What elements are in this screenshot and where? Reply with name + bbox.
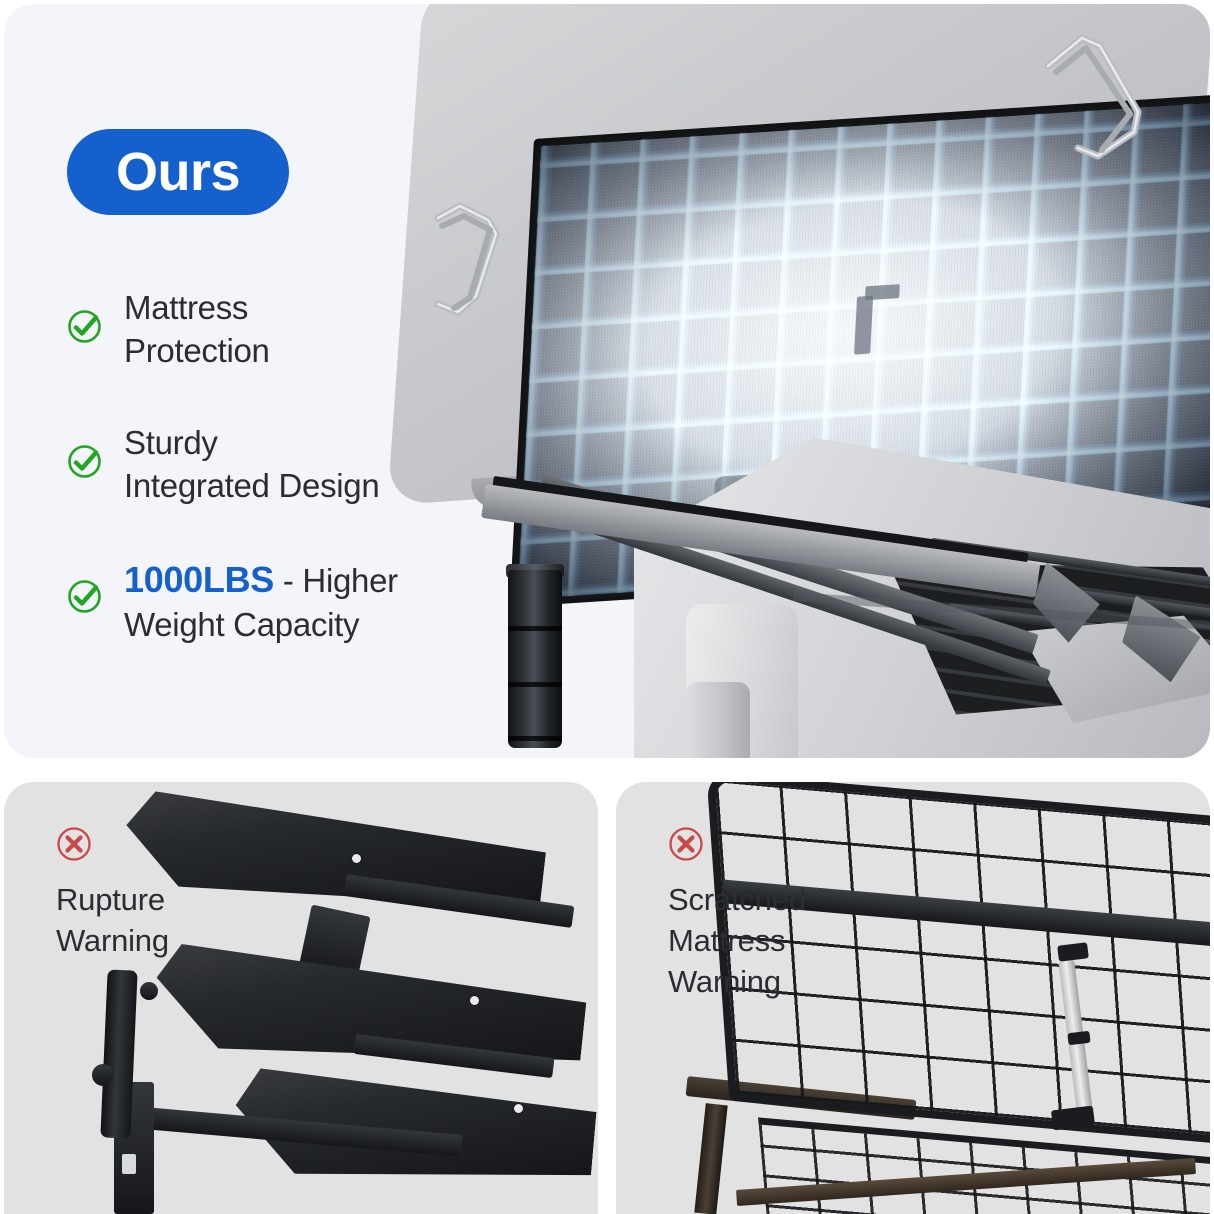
- check-circle-icon: [67, 444, 102, 479]
- product-label-tag: [122, 1154, 136, 1174]
- feature-item-weight-capacity: 1000LBS - Higher Weight Capacity: [67, 557, 487, 646]
- deck-rivet: [514, 1104, 523, 1113]
- warning-line: Warning: [56, 923, 169, 958]
- feature-label: Sturdy Integrated Design: [124, 422, 379, 507]
- feature-line: Sturdy: [124, 424, 218, 461]
- deck-rivet: [470, 996, 479, 1005]
- feature-list: Mattress Protection Sturdy Integrated De…: [67, 287, 487, 646]
- feature-item-mattress-protection: Mattress Protection: [67, 287, 487, 372]
- pivot-joint: [140, 982, 158, 1000]
- warning-line: Rupture: [56, 882, 165, 917]
- rupture-warning-icon-wrap: [56, 826, 92, 862]
- warning-line: Warning: [668, 964, 781, 999]
- feature-item-sturdy-integrated-design: Sturdy Integrated Design: [67, 422, 487, 507]
- rear-support-post: [686, 682, 750, 758]
- rupture-warning-panel: Rupture Warning: [4, 782, 598, 1214]
- check-circle-icon: [67, 579, 102, 614]
- cross-circle-icon: [56, 826, 92, 862]
- leg-segment-ring: [508, 626, 562, 631]
- scratched-warning-icon-wrap: [668, 826, 704, 862]
- ours-badge: Ours: [67, 129, 289, 215]
- scratched-warning-label: Scratched Mattress Warning: [668, 880, 806, 1003]
- leg-segment-ring: [508, 682, 562, 687]
- feature-label: 1000LBS - Higher Weight Capacity: [124, 557, 487, 646]
- deck-rivet: [352, 854, 361, 863]
- feature-label: Mattress Protection: [124, 287, 270, 372]
- weight-capacity-value: 1000LBS: [124, 559, 274, 600]
- check-circle-icon: [67, 309, 102, 344]
- chrome-wire-handle-right: [1042, 28, 1172, 193]
- cross-circle-icon: [668, 826, 704, 862]
- warning-line: Scratched: [668, 882, 806, 917]
- feature-line: Integrated Design: [124, 467, 379, 504]
- frame-leg: [694, 1103, 727, 1214]
- pivot-joint: [92, 1064, 114, 1086]
- ours-badge-label: Ours: [116, 145, 240, 199]
- feature-line: Protection: [124, 332, 270, 369]
- adjustable-black-leg: [508, 570, 562, 748]
- scratched-mattress-warning-panel: Scratched Mattress Warning: [616, 782, 1210, 1214]
- competitor-slat-frame-image: [4, 782, 598, 1214]
- ours-comparison-panel: Ours Mattress Protection: [4, 4, 1210, 758]
- wire-handle-icon: [1042, 28, 1172, 193]
- warning-line: Mattress: [668, 923, 785, 958]
- leg-segment-ring: [508, 736, 562, 741]
- rupture-warning-label: Rupture Warning: [56, 880, 169, 962]
- feature-line: Mattress: [124, 289, 248, 326]
